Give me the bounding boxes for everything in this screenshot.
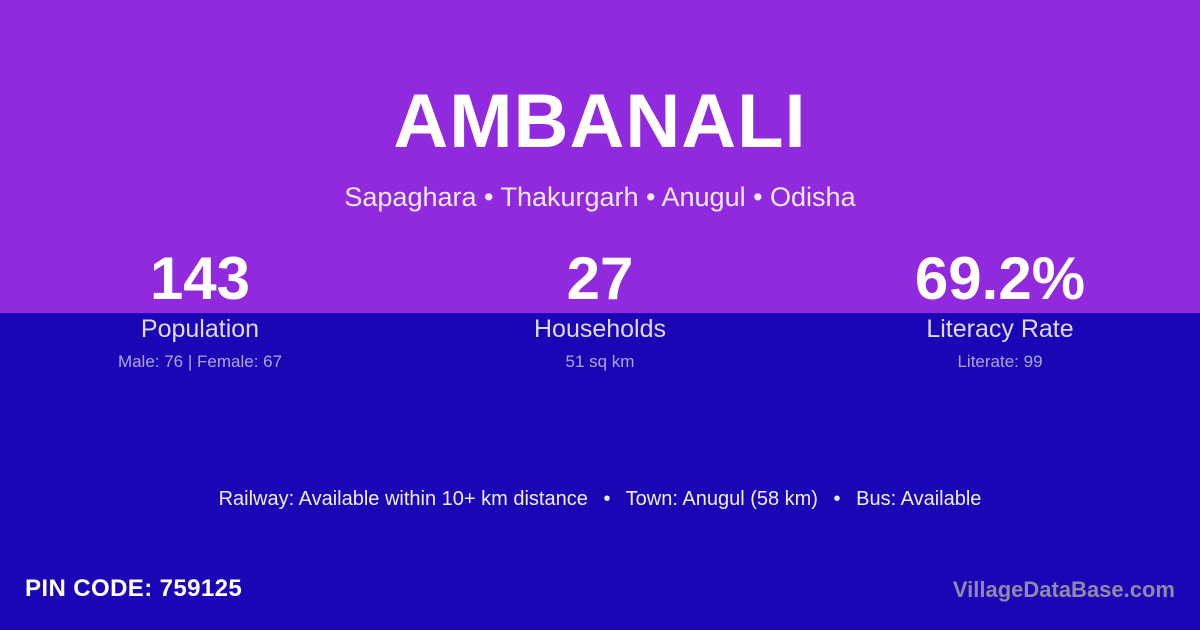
- pin-code: PIN CODE: 759125: [25, 574, 242, 604]
- bullet-separator-icon: •: [824, 486, 851, 512]
- stat-sublabel: 51 sq km: [400, 352, 800, 372]
- stat-sublabel: Literate: 99: [800, 352, 1200, 372]
- infra-bus: Bus: Available: [856, 488, 981, 510]
- infra-railway: Railway: Available within 10+ km distanc…: [219, 488, 588, 510]
- infra-town: Town: Anugul (58 km): [626, 488, 818, 510]
- footer: PIN CODE: 759125 VillageDataBase.com: [0, 560, 1200, 630]
- stat-value: 69.2%: [800, 248, 1200, 310]
- stat-label: Households: [400, 314, 800, 344]
- stat-label: Literacy Rate: [800, 314, 1200, 344]
- stat-sublabel: Male: 76 | Female: 67: [0, 352, 400, 372]
- stat-households: 27 Households 51 sq km: [400, 248, 800, 372]
- infrastructure-line: Railway: Available within 10+ km distanc…: [0, 486, 1200, 512]
- village-info-card: AMBANALI Sapaghara • Thakurgarh • Anugul…: [0, 0, 1200, 630]
- stat-value: 27: [400, 248, 800, 310]
- brand-watermark: VillageDataBase.com: [953, 576, 1175, 604]
- page-title: AMBANALI: [0, 84, 1200, 160]
- bullet-separator-icon: •: [593, 486, 620, 512]
- stat-value: 143: [0, 248, 400, 310]
- stat-population: 143 Population Male: 76 | Female: 67: [0, 248, 400, 372]
- breadcrumb: Sapaghara • Thakurgarh • Anugul • Odisha: [0, 183, 1200, 213]
- stat-literacy-rate: 69.2% Literacy Rate Literate: 99: [800, 248, 1200, 372]
- stat-label: Population: [0, 314, 400, 344]
- stats-row: 143 Population Male: 76 | Female: 67 27 …: [0, 248, 1200, 372]
